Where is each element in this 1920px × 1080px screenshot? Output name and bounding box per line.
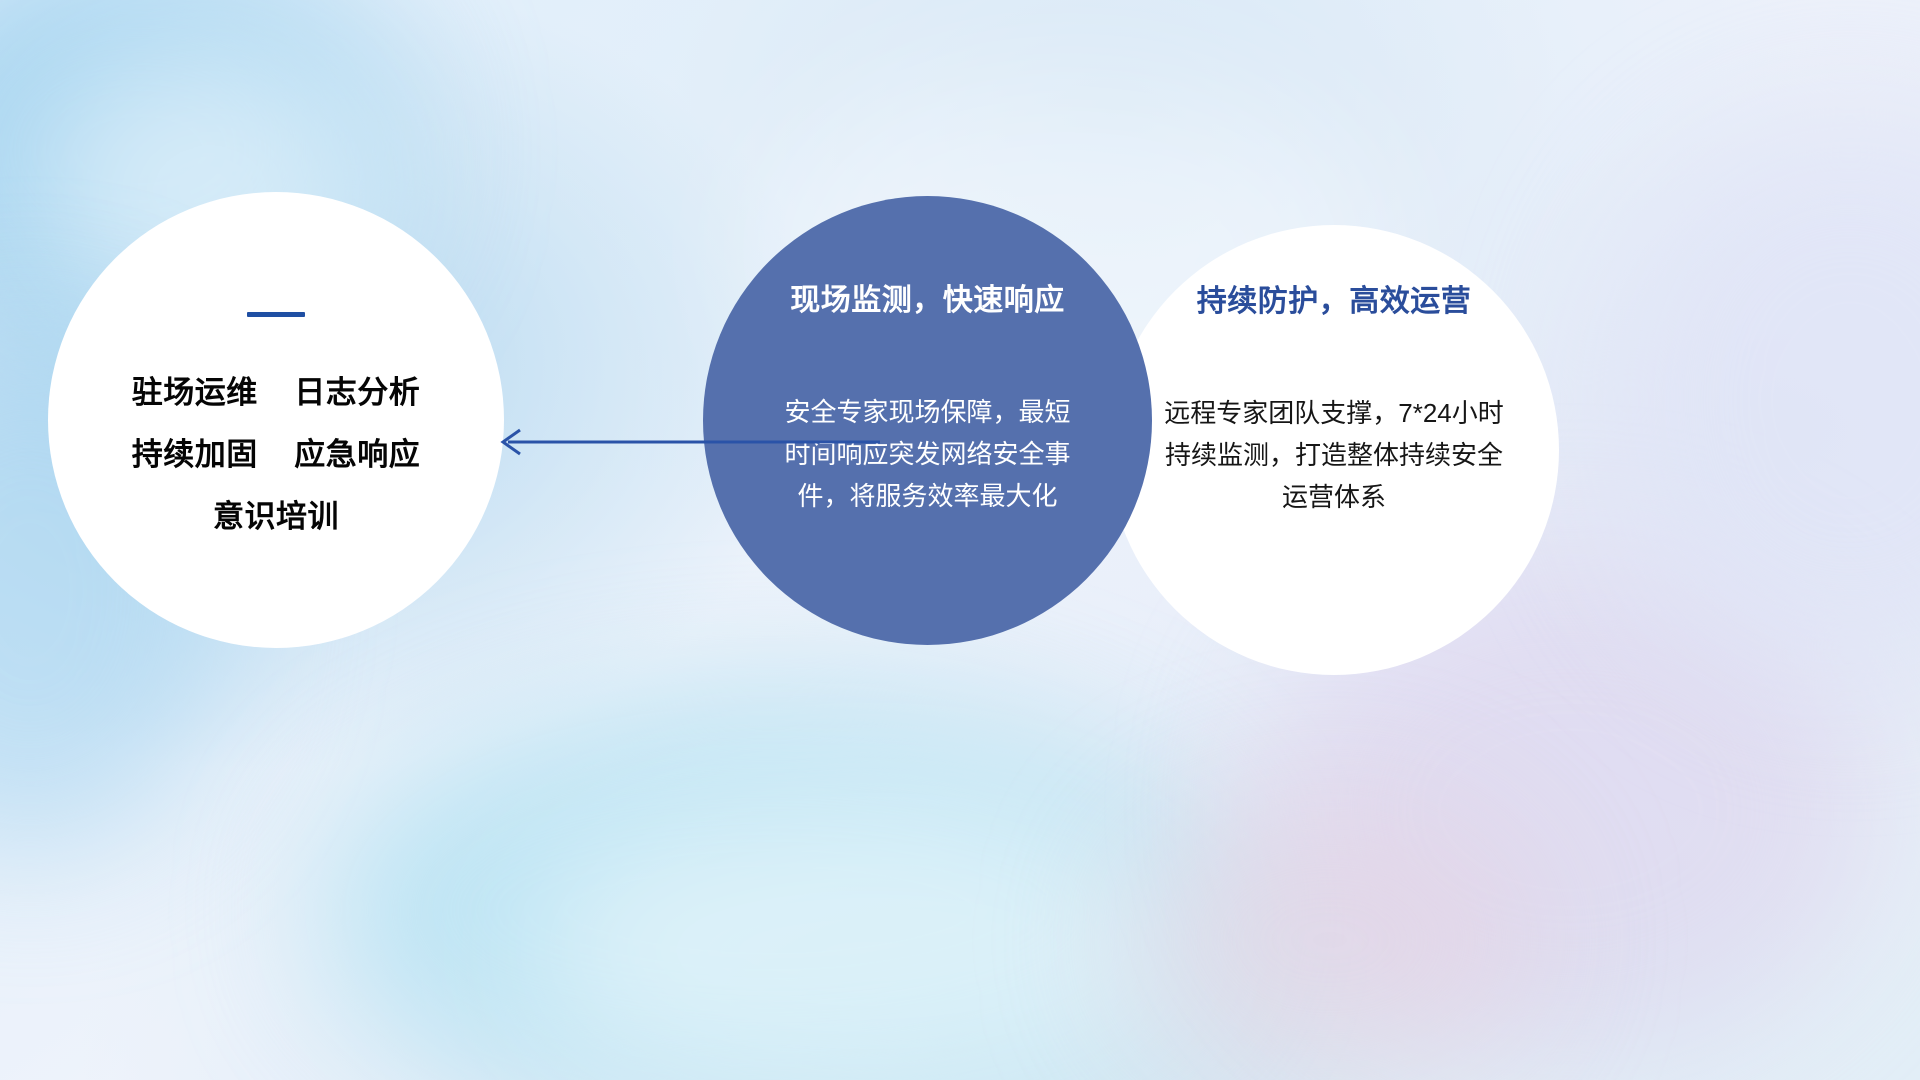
slide-canvas: 驻场运维 日志分析 持续加固 应急响应 意识培训 持续防护，高效运营 远程专家团… bbox=[0, 0, 1920, 1080]
continuous-protection-content: 持续防护，高效运营 远程专家团队支撑，7*24小时持续监测，打造整体持续安全运营… bbox=[1109, 285, 1559, 518]
capability-line-2: 持续加固 应急响应 bbox=[82, 439, 470, 470]
capability-line-1: 驻场运维 日志分析 bbox=[82, 377, 470, 408]
divider-rule bbox=[247, 312, 305, 317]
continuous-protection-title: 持续防护，高效运营 bbox=[1133, 285, 1535, 318]
leftward-flow-arrow bbox=[490, 420, 890, 464]
onsite-monitoring-content: 现场监测，快速响应 安全专家现场保障，最短时间响应突发网络安全事件，将服务效率最… bbox=[703, 284, 1152, 517]
capability-line-3: 意识培训 bbox=[82, 501, 470, 532]
capabilities-content: 驻场运维 日志分析 持续加固 应急响应 意识培训 bbox=[48, 312, 504, 532]
capabilities-circle[interactable]: 驻场运维 日志分析 持续加固 应急响应 意识培训 bbox=[48, 192, 504, 648]
continuous-protection-circle[interactable]: 持续防护，高效运营 远程专家团队支撑，7*24小时持续监测，打造整体持续安全运营… bbox=[1109, 225, 1559, 675]
onsite-monitoring-title: 现场监测，快速响应 bbox=[737, 284, 1118, 317]
continuous-protection-body: 远程专家团队支撑，7*24小时持续监测，打造整体持续安全运营体系 bbox=[1158, 392, 1510, 518]
